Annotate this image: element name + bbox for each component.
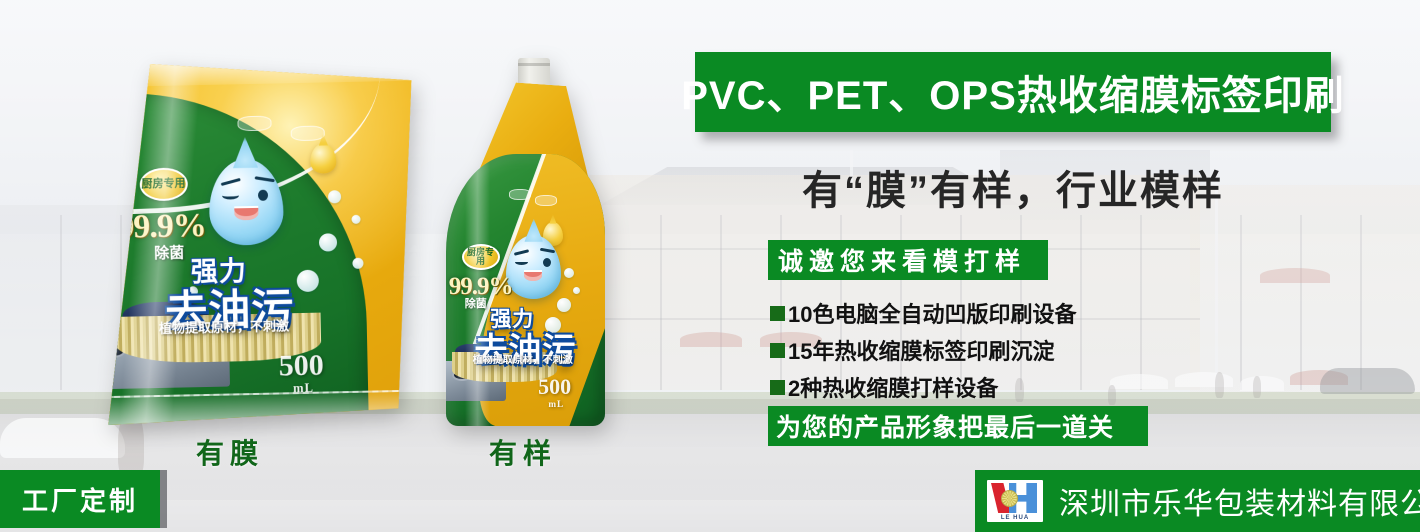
logo-wordmark: LE HUA [987,515,1043,521]
invite-label: 诚邀您来看模打样 [768,242,1026,278]
bullet-square-icon [770,380,785,395]
pouch-bottom-seal [104,390,408,425]
caption-pouch: 有膜 [196,432,264,472]
lehua-logo-icon: LE HUA [987,480,1043,522]
splash-bubble [351,215,360,224]
mascot-mouth [234,206,258,220]
feature-bullet-list: 10色电脑全自动凹版印刷设备 15年热收缩膜标签印刷沉淀 2种热收缩膜打样设备 [770,297,1076,408]
mascot-eye-wink [222,191,239,199]
factory-custom-tag: 工厂定制 [0,470,160,528]
bullet-label: 15年热收缩膜标签印刷沉淀 [788,334,1054,366]
mascot-mouth [524,270,542,281]
splash-bubble [319,233,337,251]
mascot-brow [255,176,275,182]
company-name: 深圳市乐华包装材料有限公司 [1059,479,1420,523]
promotional-banner: 厨房专用 99.9% 除菌 强力 去油污 植物提取原材，不刺激 500 mL [0,0,1420,532]
bottle-mini-badge [509,189,531,200]
pouch-mini-badge [290,125,324,141]
bottle-gloss-sheen [465,154,491,426]
product-bottle: 厨房专用 99.9% 除菌 强力 去油污 植物提取原材，不刺激 500 mL [438,58,628,426]
headline-title-box: PVC、PET、OPS热收缩膜标签印刷 [695,52,1331,132]
splash-bubble [564,268,574,278]
bottle-body-label: 厨房专用 99.9% 除菌 强力 去油污 植物提取原材，不刺激 500 mL [446,154,606,426]
logo-gear-circle [1001,490,1018,507]
bottle-volume-unit: mL [548,399,571,409]
mascot-brow [221,178,241,186]
company-footer-bar: LE HUA 深圳市乐华包装材料有限公司 [975,470,1420,532]
splash-bubble [296,269,318,291]
product-showcase: 厨房专用 99.9% 除菌 强力 去油污 植物提取原材，不刺激 500 mL [0,0,660,532]
list-item: 15年热收缩膜标签印刷沉淀 [770,334,1076,366]
bullet-square-icon [770,343,785,358]
caption-bottle: 有样 [489,432,557,472]
pouch-mini-badge [237,116,271,132]
pouch-volume: 500 mL [278,349,324,397]
headline-subtitle: 有“膜”有样，行业模样 [695,158,1331,216]
mascot-brow [514,249,529,256]
invite-box: 诚邀您来看模打样 [768,240,1048,280]
list-item: 10色电脑全自动凹版印刷设备 [770,297,1076,329]
mascot-eye [258,190,268,201]
bullet-label: 2种热收缩膜打样设备 [788,371,998,403]
closing-statement-box: 为您的产品形象把最后一道关 [768,406,1148,446]
bullet-square-icon [770,306,785,321]
pouch-volume-number: 500 [278,349,324,383]
headline-title: PVC、PET、OPS热收缩膜标签印刷 [681,63,1345,121]
list-item: 2种热收缩膜打样设备 [770,371,1076,403]
mascot-eye [543,258,551,267]
closing-label: 为您的产品形象把最后一道关 [768,408,1114,444]
bottle-mini-badge [535,195,557,206]
bullet-label: 10色电脑全自动凹版印刷设备 [788,297,1076,329]
bottle-volume: 500 mL [538,374,571,408]
mascot-brow [540,248,555,254]
mascot-eye-wink [515,259,528,265]
bottle-volume-number: 500 [538,374,571,399]
product-pouch: 厨房专用 99.9% 除菌 强力 去油污 植物提取原材，不刺激 500 mL [84,59,421,426]
splash-bubble [328,190,341,203]
